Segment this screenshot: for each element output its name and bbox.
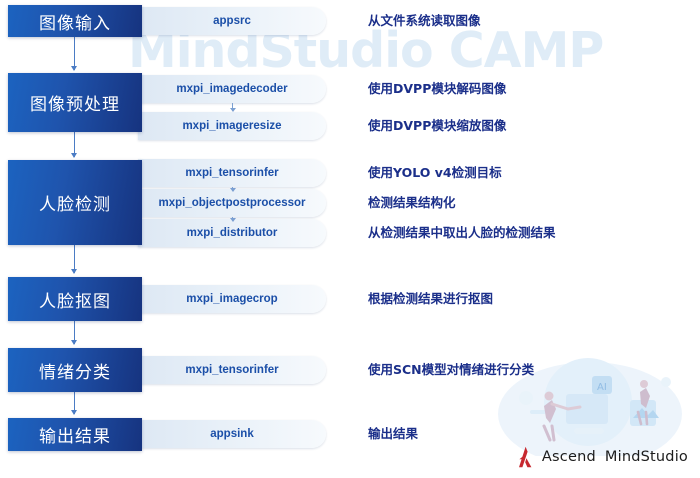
- logo-brand: Ascend: [542, 449, 596, 465]
- svg-text:AI: AI: [597, 382, 607, 393]
- stage-box-face-detect[interactable]: 人脸检测: [8, 160, 142, 245]
- plugin-name: appsrc: [213, 15, 251, 27]
- plugin-pill-mxpi-tensorinfer-detect[interactable]: mxpi_tensorinfer: [138, 159, 326, 187]
- logo-product: MindStudio: [605, 449, 688, 465]
- stage-label: 输出结果: [39, 422, 111, 447]
- subconnector-3: [232, 217, 233, 221]
- stage-description-tensorinfer-detect: 使用YOLO v4检测目标: [368, 162, 502, 181]
- stage-description-output-result: 输出结果: [368, 423, 418, 442]
- stage-label: 人脸检测: [39, 190, 111, 215]
- plugin-pill-mxpi-imagecrop[interactable]: mxpi_imagecrop: [138, 285, 326, 313]
- stage-box-face-crop[interactable]: 人脸抠图: [8, 277, 142, 321]
- stage-box-output-result[interactable]: 输出结果: [8, 418, 142, 451]
- stage-description-image-input: 从文件系统读取图像: [368, 10, 481, 29]
- plugin-name: mxpi_distributor: [187, 227, 278, 239]
- stage-label: 情绪分类: [39, 358, 111, 383]
- plugin-pill-mxpi-distributor[interactable]: mxpi_distributor: [138, 219, 326, 247]
- stage-box-emotion-classify[interactable]: 情绪分类: [8, 348, 142, 392]
- plugin-pill-mxpi-objectpostprocessor[interactable]: mxpi_objectpostprocessor: [138, 189, 326, 217]
- diagram-canvas: MindStudio CAMP AI 图像输入 appsrc 从文件系统读取图像…: [0, 0, 700, 478]
- plugin-pill-mxpi-imagedecoder[interactable]: mxpi_imagedecoder: [138, 75, 326, 103]
- stage-description-objectpostprocessor: 检测结果结构化: [368, 192, 456, 211]
- plugin-name: appsink: [210, 428, 253, 440]
- plugin-name: mxpi_tensorinfer: [185, 167, 278, 179]
- stage-label: 人脸抠图: [39, 287, 111, 312]
- stage-label: 图像预处理: [30, 90, 120, 115]
- ascend-logo-icon: [515, 446, 535, 468]
- stage-description-imageresize: 使用DVPP模块缩放图像: [368, 115, 506, 134]
- stage-description-imagecrop: 根据检测结果进行抠图: [368, 288, 493, 307]
- stage-box-image-preprocess[interactable]: 图像预处理: [8, 73, 142, 132]
- connector-1: [74, 37, 75, 70]
- subconnector-1: [232, 103, 233, 111]
- decorative-illustration: AI: [470, 336, 700, 456]
- stage-description-imagedecoder: 使用DVPP模块解码图像: [368, 78, 506, 97]
- plugin-name: mxpi_objectpostprocessor: [159, 197, 306, 209]
- stage-description-tensorinfer-emotion: 使用SCN模型对情绪进行分类: [368, 359, 534, 378]
- subconnector-2: [232, 187, 233, 191]
- plugin-name: mxpi_imagecrop: [186, 293, 277, 305]
- plugin-pill-appsrc[interactable]: appsrc: [138, 7, 326, 35]
- plugin-pill-mxpi-imageresize[interactable]: mxpi_imageresize: [138, 112, 326, 140]
- brand-logo: AscendMindStudio: [515, 446, 688, 468]
- stage-label: 图像输入: [39, 9, 111, 34]
- stage-box-image-input[interactable]: 图像输入: [8, 5, 142, 37]
- plugin-pill-appsink[interactable]: appsink: [138, 420, 326, 448]
- plugin-pill-mxpi-tensorinfer-emotion[interactable]: mxpi_tensorinfer: [138, 356, 326, 384]
- connector-2: [74, 132, 75, 157]
- logo-text: AscendMindStudio: [542, 449, 688, 465]
- connector-3: [74, 245, 75, 273]
- connector-5: [74, 392, 75, 414]
- stage-description-distributor: 从检测结果中取出人脸的检测结果: [368, 222, 556, 241]
- plugin-name: mxpi_imageresize: [182, 120, 281, 132]
- connector-4: [74, 321, 75, 344]
- plugin-name: mxpi_imagedecoder: [176, 83, 287, 95]
- plugin-name: mxpi_tensorinfer: [185, 364, 278, 376]
